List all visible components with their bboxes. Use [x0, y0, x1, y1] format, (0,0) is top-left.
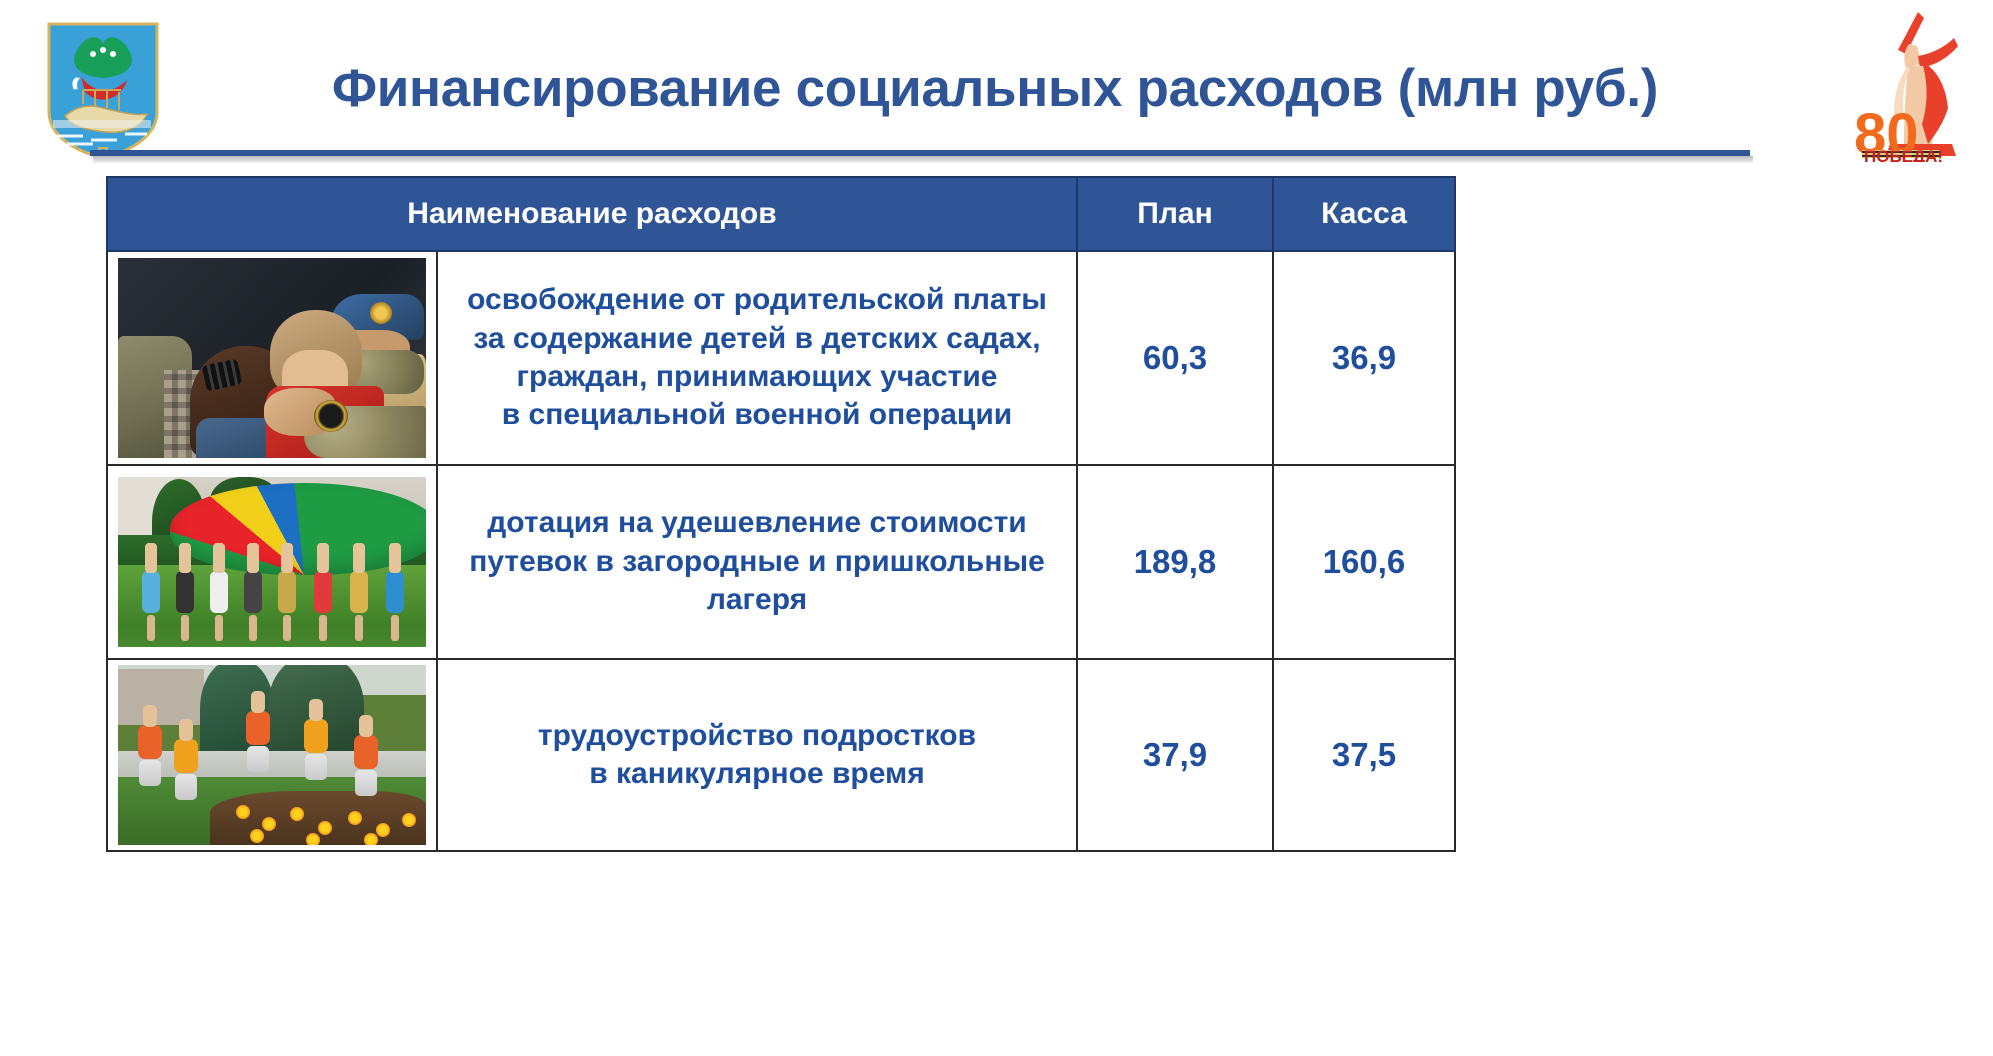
- soldier-hugging-family-photo: [118, 258, 426, 458]
- row-expense-name: освобождение от родительской платы за со…: [437, 251, 1077, 465]
- expense-name-line: за содержание детей в детских садах,: [438, 320, 1076, 358]
- column-header-cash: Касса: [1273, 177, 1455, 251]
- page-title: Финансирование социальных расходов (млн …: [255, 58, 1735, 119]
- coat-of-arms-icon: [43, 20, 163, 160]
- teenagers-planting-flowers-photo: [118, 665, 426, 845]
- expense-name-line: в каникулярное время: [438, 755, 1076, 793]
- header-divider-shadow: [93, 156, 1753, 163]
- row-photo-cell: [107, 251, 437, 465]
- victory-caption: ПОБЕДА!: [1864, 147, 1943, 162]
- row-plan-value: 189,8: [1077, 465, 1273, 659]
- table-row: дотация на удешевление стоимости путевок…: [107, 465, 1455, 659]
- row-photo-cell: [107, 659, 437, 851]
- expense-name-line: в специальной военной операции: [438, 396, 1076, 434]
- table-row: трудоустройство подростков в каникулярно…: [107, 659, 1455, 851]
- row-cash-value: 37,5: [1273, 659, 1455, 851]
- table-header-row: Наименование расходов План Касса: [107, 177, 1455, 251]
- victory-80-emblem-icon: 80 ПОБЕДА!: [1848, 4, 1966, 162]
- row-plan-value: 60,3: [1077, 251, 1273, 465]
- slide-header: Финансирование социальных расходов (млн …: [0, 0, 1993, 205]
- expense-name-line: граждан, принимающих участие: [438, 358, 1076, 396]
- expense-name-line: путевок в загородные и пришкольные: [438, 543, 1076, 581]
- row-expense-name: дотация на удешевление стоимости путевок…: [437, 465, 1077, 659]
- table-row: освобождение от родительской платы за со…: [107, 251, 1455, 465]
- row-cash-value: 36,9: [1273, 251, 1455, 465]
- column-header-plan: План: [1077, 177, 1273, 251]
- expense-name-line: трудоустройство подростков: [438, 717, 1076, 755]
- expense-name-line: дотация на удешевление стоимости: [438, 504, 1076, 542]
- expense-name-line: освобождение от родительской платы: [438, 281, 1076, 319]
- row-plan-value: 37,9: [1077, 659, 1273, 851]
- children-with-parachute-photo: [118, 477, 426, 647]
- row-expense-name: трудоустройство подростков в каникулярно…: [437, 659, 1077, 851]
- column-header-name: Наименование расходов: [107, 177, 1077, 251]
- social-expenses-table: Наименование расходов План Касса: [106, 176, 1456, 852]
- row-photo-cell: [107, 465, 437, 659]
- row-cash-value: 160,6: [1273, 465, 1455, 659]
- expense-name-line: лагеря: [438, 581, 1076, 619]
